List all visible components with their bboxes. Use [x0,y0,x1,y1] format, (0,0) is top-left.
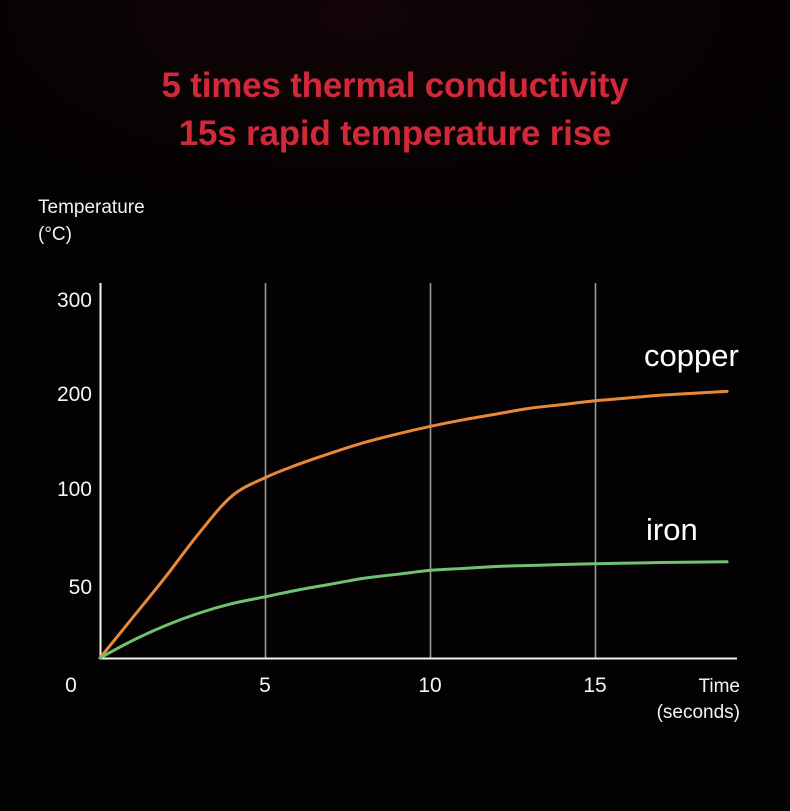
x-tick-label-0: 0 [46,674,96,698]
series-label-copper: copper [644,338,739,374]
y-tick-label-300: 300 [30,289,92,313]
series-label-iron: iron [646,512,698,548]
axes-group [100,283,737,659]
series-line-iron [100,562,727,658]
series-line-copper [100,391,727,658]
chart-page: 5 times thermal conductivity 15s rapid t… [0,0,790,811]
x-tick-label-10: 10 [405,674,455,698]
gridlines-group [266,283,596,658]
x-axis-title-unit: (seconds) [580,700,740,726]
x-axis-title-name: Time [698,676,740,697]
series-paths-group [100,391,727,658]
y-tick-label-50: 50 [30,576,92,600]
x-tick-label-5: 5 [240,674,290,698]
y-tick-label-100: 100 [30,478,92,502]
y-tick-label-200: 200 [30,383,92,407]
x-axis-title: Time (seconds) [580,674,740,726]
